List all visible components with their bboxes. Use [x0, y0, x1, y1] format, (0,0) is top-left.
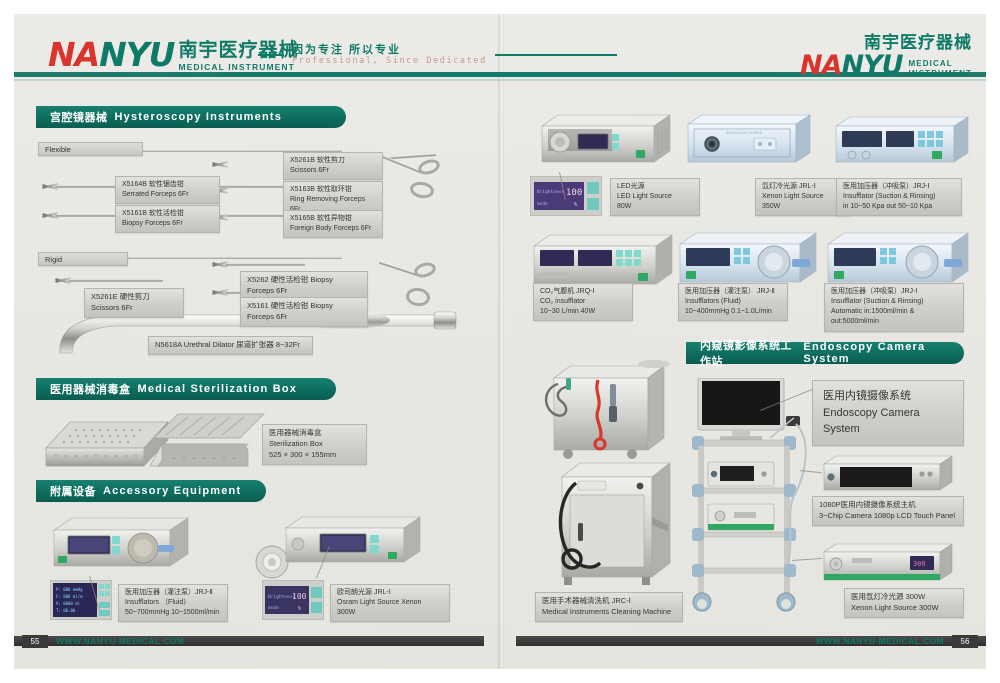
slogan-cn: 因为专注 所以专业 — [292, 44, 487, 56]
section-title-en: Accessory Equipment — [103, 485, 241, 497]
forceps-ring-icon — [412, 260, 437, 280]
device-label: CO₂气腹机 JRQ-Ⅰ CO₂ insufflator 10~30 L/min… — [533, 283, 633, 321]
section-title-cn: 内窥镜影像系统工作站 — [700, 337, 796, 369]
section-header-hysteroscopy: 宫腔镜器械 Hysteroscopy Instruments — [36, 106, 346, 128]
sterilization-box-open-image — [148, 404, 268, 479]
accessory-label: 欧司朗光源 JRL-Ⅰ Osram Light Source Xenon 300… — [330, 584, 450, 622]
svg-text:100: 100 — [566, 188, 582, 198]
xenon-light-source-image: XENON LIGHT SOURCE — [684, 110, 814, 177]
section-header-accessory: 附属设备 Accessory Equipment — [36, 480, 266, 502]
svg-text:100: 100 — [292, 592, 307, 601]
brand-subtitle-en-right: MEDICALINSTRUMENT — [909, 59, 972, 79]
brand-wordmark: NANYU — [48, 38, 174, 71]
forceps-tip-icon — [212, 288, 228, 297]
footer-url-left: WWW.NANYU-MEDICAL.COM — [56, 636, 184, 646]
page-spine — [498, 14, 504, 669]
insufflator-suction-rinsing-image — [832, 112, 972, 177]
instrument-label: X5261B 软性剪刀 Scissors 6Fr — [283, 152, 383, 180]
led-panel-closeup: Brightness 100 mode % — [530, 176, 602, 221]
sterilization-box-label: 医用器械消毒盒 Sterilization Box 525 × 300 × 15… — [262, 424, 367, 465]
svg-text:%: % — [574, 202, 577, 208]
camera-unit-label: 1080P医用内镜摄像系统主机 3~Chip Camera 1080p LCD … — [812, 496, 964, 526]
forceps-tip-icon — [55, 276, 71, 285]
section-title-cn: 宫腔镜器械 — [50, 109, 108, 125]
page-number-right: 56 — [952, 635, 978, 648]
catalog-page: NANYU 南宇医疗器械 MEDICAL INSTRUMENT 因为专注 所以专… — [0, 0, 1000, 683]
brand-wordmark-right: NANYU — [800, 52, 903, 79]
instrument-shaft — [225, 263, 305, 266]
osram-light-source-image — [278, 512, 428, 577]
device-label: LED光源 LED Light Source 80W — [610, 178, 700, 216]
brand-name-cn-right: 南宇医疗器械 — [800, 34, 972, 51]
svg-text:mode: mode — [268, 605, 279, 611]
device-label: 医用加压器（灌注泵） JRJ-Ⅱ Insufflators (Fluid) 10… — [678, 283, 788, 321]
instrument-label: X5161B 软性活检钳 Biopsy Forceps 6Fr — [115, 205, 220, 233]
camera-system-main-label: 医用内镜摄像系统 Endoscopy Camera System — [812, 380, 964, 446]
slogan-rule-right — [495, 54, 617, 56]
svg-text:%: % — [298, 606, 301, 612]
forceps-ring-icon — [409, 180, 435, 200]
instrument-label: X5165B 软性异物钳 Foreign Body Forceps 6Fr — [283, 210, 383, 238]
instrument-label: X5161 硬性活检钳 Biopsy Forceps 6Fr — [240, 297, 368, 327]
accessory-label: 医用加压器（灌注泵）JRJ-Ⅱ Insufflators （Fluid） 50~… — [118, 584, 228, 622]
instrument-label: X5261E 硬性剪刀 Scissors 6Fr — [84, 288, 184, 318]
brand-logo-right: 南宇医疗器械 NANYU MEDICALINSTRUMENT — [800, 34, 972, 79]
forceps-tip-icon — [212, 260, 228, 269]
slogan-en: Professional, Since Dedicated — [292, 56, 487, 66]
forceps-ring-icon — [416, 157, 441, 177]
forceps-tip-icon — [42, 182, 58, 191]
svg-text:Brightness: Brightness — [537, 189, 564, 195]
instrument-label: N5618A Urethral Dilator 尿道扩张器 8~32Fr — [148, 336, 313, 355]
group-label-flexible: Flexible — [38, 142, 143, 156]
device-label: 医用加压器（冲吸泵）JRJ-Ⅰ Insufflator (Suction & R… — [836, 178, 962, 216]
svg-text:XENON LIGHT SOURCE: XENON LIGHT SOURCE — [726, 131, 762, 135]
insufflator-fluid-image — [46, 512, 196, 583]
cleaning-machine-image — [548, 455, 678, 595]
camera-control-unit-image — [818, 452, 958, 501]
instrument-label: X5164B 软性锯齿钳 Serrated Forceps 6Fr — [115, 176, 220, 204]
instrument-shaft — [68, 279, 163, 282]
xenon-300w-image: 300 — [818, 540, 958, 591]
forceps-tip-icon — [212, 160, 228, 169]
svg-text:F: 000 ml/m: F: 000 ml/m — [56, 594, 83, 599]
section-title-en: Medical Sterilization Box — [138, 383, 298, 395]
svg-text:300: 300 — [913, 560, 926, 568]
device-label: 医用手术器械清洗机 JRC-Ⅰ Medical Instruments Clea… — [535, 592, 683, 622]
slogan-rule-left — [258, 54, 284, 56]
page-number-left: 55 — [22, 635, 48, 648]
xenon-light-label: 医用氙灯冷光源 300W Xenon Light Source 300W — [844, 588, 964, 618]
svg-text:mode: mode — [537, 201, 548, 207]
section-title-cn: 附属设备 — [50, 483, 96, 499]
section-title-en: Endoscopy Camera System — [803, 341, 948, 365]
svg-text:P: 000 mmHg: P: 000 mmHg — [56, 587, 83, 592]
svg-text:T: 00:00: T: 00:00 — [56, 608, 76, 613]
forceps-tip-icon — [42, 211, 58, 220]
brand-slogan: 因为专注 所以专业 Professional, Since Dedicated — [258, 44, 617, 66]
footer-url-right: WWW.NANYU-MEDICAL.COM — [816, 636, 944, 646]
led-light-source-image — [536, 110, 676, 177]
group-label-rigid: Rigid — [38, 252, 128, 266]
svg-text:V: 0000 ml: V: 0000 ml — [56, 601, 81, 606]
section-title-cn: 医用器械消毒盒 — [50, 381, 131, 397]
insufflator-panel-closeup: P: 000 mmHgF: 000 ml/m V: 0000 mlT: 00:0… — [50, 580, 112, 625]
section-title-en: Hysteroscopy Instruments — [115, 111, 283, 123]
section-header-camera-system: 内窥镜影像系统工作站 Endoscopy Camera System — [686, 342, 964, 364]
device-label: 医用加压器（冲吸泵）JRJ-Ⅰ Insufflator (Suction & R… — [824, 283, 964, 332]
light-source-panel-closeup: Brightness 100 mode % — [262, 580, 324, 625]
section-header-sterilization: 医用器械消毒盒 Medical Sterilization Box — [36, 378, 336, 400]
